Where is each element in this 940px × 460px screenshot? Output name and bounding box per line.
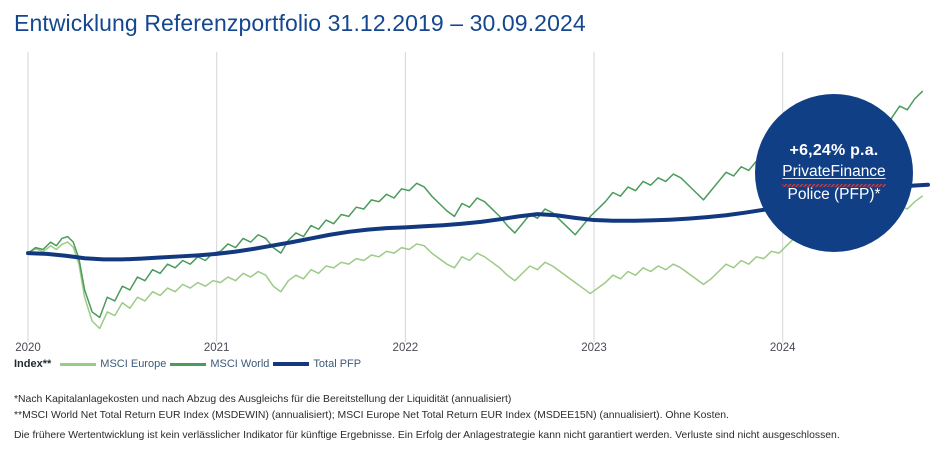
x-axis: 20202021202220232024 [0,336,940,356]
legend-item-msci-world: MSCI World [170,358,269,370]
disclaimer-text: Die frühere Wertentwicklung ist kein ver… [14,430,934,441]
footnote-line-1: *Nach Kapitalanlagekosten und nach Abzug… [14,392,934,408]
badge-percent: +6,24% p.a. [790,141,879,161]
footnotes: *Nach Kapitalanlagekosten und nach Abzug… [14,392,934,424]
x-tick-label-2022: 2022 [393,342,419,354]
legend-label-total-pfp: Total PFP [313,358,361,370]
badge-product-name: Police (PFP)* [787,185,880,205]
legend-item-msci-europe: MSCI Europe [60,358,166,370]
legend-swatch-msci-europe [60,363,96,366]
legend-label-msci-europe: MSCI Europe [100,358,166,370]
legend-swatch-msci-world [170,363,206,366]
footnote-line-2: **MSCI World Net Total Return EUR Index … [14,408,934,424]
performance-badge: +6,24% p.a. PrivateFinance Police (PFP)* [755,94,913,252]
legend-label-msci-world: MSCI World [210,358,269,370]
legend-item-total-pfp: Total PFP [273,358,361,370]
badge-brand-name: PrivateFinance [782,162,885,182]
x-tick-label-2021: 2021 [204,342,230,354]
legend-swatch-total-pfp [273,362,309,366]
legend-title: Index** [14,358,51,370]
chart-legend: Index** MSCI Europe MSCI World Total PFP [14,356,365,372]
page-title: Entwicklung Referenzportfolio 31.12.2019… [14,10,586,37]
x-tick-label-2024: 2024 [770,342,796,354]
x-tick-label-2023: 2023 [581,342,607,354]
x-tick-label-2020: 2020 [15,342,41,354]
